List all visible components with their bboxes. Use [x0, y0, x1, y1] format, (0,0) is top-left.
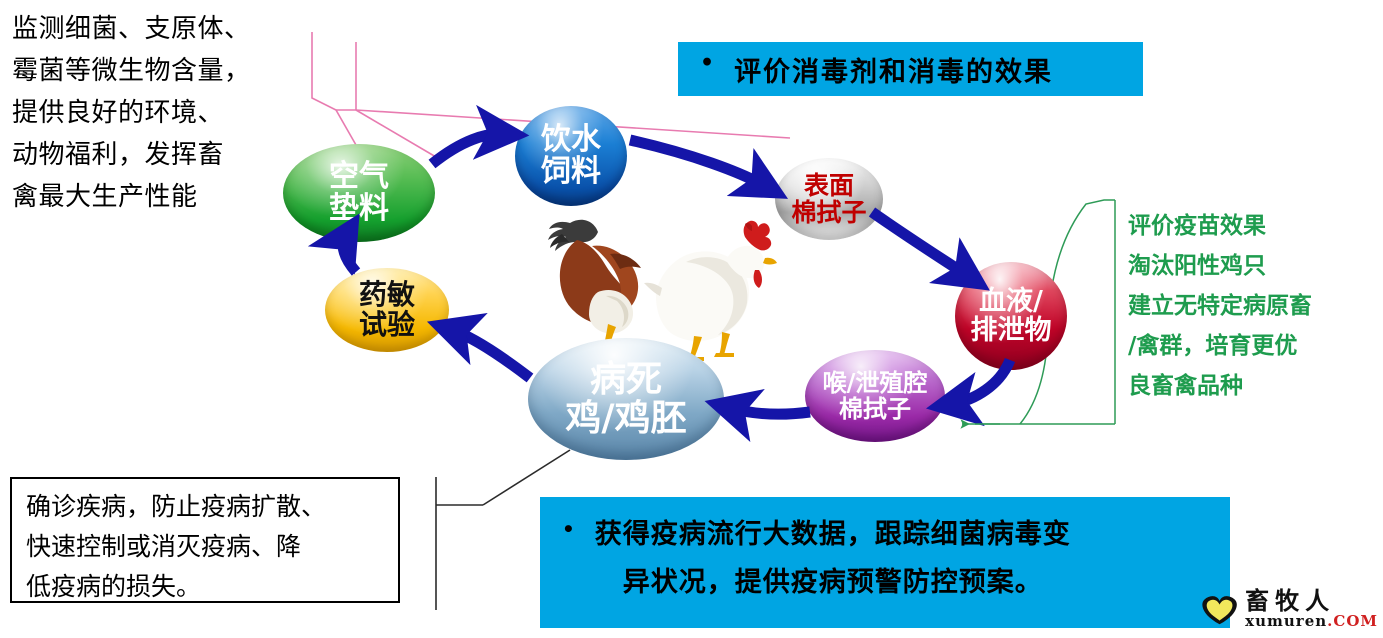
bottom-banner-line-2: 异状况，提供疫病预警防控预案。 — [623, 559, 1071, 607]
left-description-text: 监测细菌、支原体、 霉菌等微生物含量， 提供良好的环境、 动物福利，发挥畜 禽最… — [12, 8, 312, 218]
bottom-highlight-banner: • 获得疫病流行大数据，跟踪细菌病毒变 异状况，提供疫病预警防控预案。 — [540, 497, 1230, 628]
arrow-drug-to-air — [343, 236, 356, 272]
top-banner-text: 评价消毒剂和消毒的效果 — [734, 50, 1053, 89]
arrow-throat-to-dead — [730, 408, 810, 414]
arrow-surface-to-blood — [872, 212, 968, 276]
diagnosis-outcome-box: 确诊疾病，防止疫病扩散、 快速控制或消灭疫病、降 低疫病的损失。 — [10, 477, 400, 603]
watermark-en-domain: .COM — [1327, 612, 1378, 630]
left-line-5: 禽最大生产性能 — [12, 176, 312, 218]
site-watermark: 畜牧人 xumuren.COM — [1200, 583, 1378, 635]
watermark-text: 畜牧人 xumuren.COM — [1245, 589, 1378, 629]
top-banner-bullet: • — [700, 52, 714, 74]
green-line-4: /禽群，培育更优 — [1128, 326, 1378, 366]
arrow-water-to-surface — [630, 140, 765, 186]
arrow-air-to-water — [432, 134, 503, 164]
green-line-3: 建立无特定病原畜 — [1128, 286, 1378, 326]
diagnose-line-3: 低疫病的损失。 — [26, 567, 398, 607]
green-line-5: 良畜禽品种 — [1128, 366, 1378, 406]
bottom-banner-line-1: 获得疫病流行大数据，跟踪细菌病毒变 — [595, 511, 1071, 559]
arrow-blood-to-throat — [952, 360, 1010, 404]
left-line-1: 监测细菌、支原体、 — [12, 8, 312, 50]
diagnose-line-1: 确诊疾病，防止疫病扩散、 — [26, 487, 398, 527]
green-line-1: 评价疫苗效果 — [1128, 206, 1378, 246]
left-line-4: 动物福利，发挥畜 — [12, 134, 312, 176]
watermark-en: xumuren.COM — [1245, 614, 1378, 629]
top-highlight-banner: • 评价消毒剂和消毒的效果 — [678, 42, 1143, 96]
green-line-2: 淘汰阳性鸡只 — [1128, 246, 1378, 286]
bottom-banner-bullet: • — [562, 519, 575, 539]
bottom-banner-text: 获得疫病流行大数据，跟踪细菌病毒变 异状况，提供疫病预警防控预案。 — [595, 511, 1071, 607]
watermark-cn: 畜牧人 — [1245, 589, 1378, 613]
right-green-description-text: 评价疫苗效果 淘汰阳性鸡只 建立无特定病原畜 /禽群，培育更优 良畜禽品种 — [1128, 206, 1378, 406]
arrow-dead-to-drug — [452, 330, 530, 378]
left-line-2: 霉菌等微生物含量， — [12, 50, 312, 92]
diagnose-line-2: 快速控制或消灭疫病、降 — [26, 527, 398, 567]
slide-canvas: 空气 垫料 饮水 饲料 表面 棉拭子 血液/ 排泄物 喉/泄殖腔 棉拭子 病死 … — [0, 0, 1383, 638]
heart-logo-icon — [1200, 587, 1239, 631]
watermark-en-main: xumuren — [1245, 612, 1327, 630]
left-line-3: 提供良好的环境、 — [12, 92, 312, 134]
